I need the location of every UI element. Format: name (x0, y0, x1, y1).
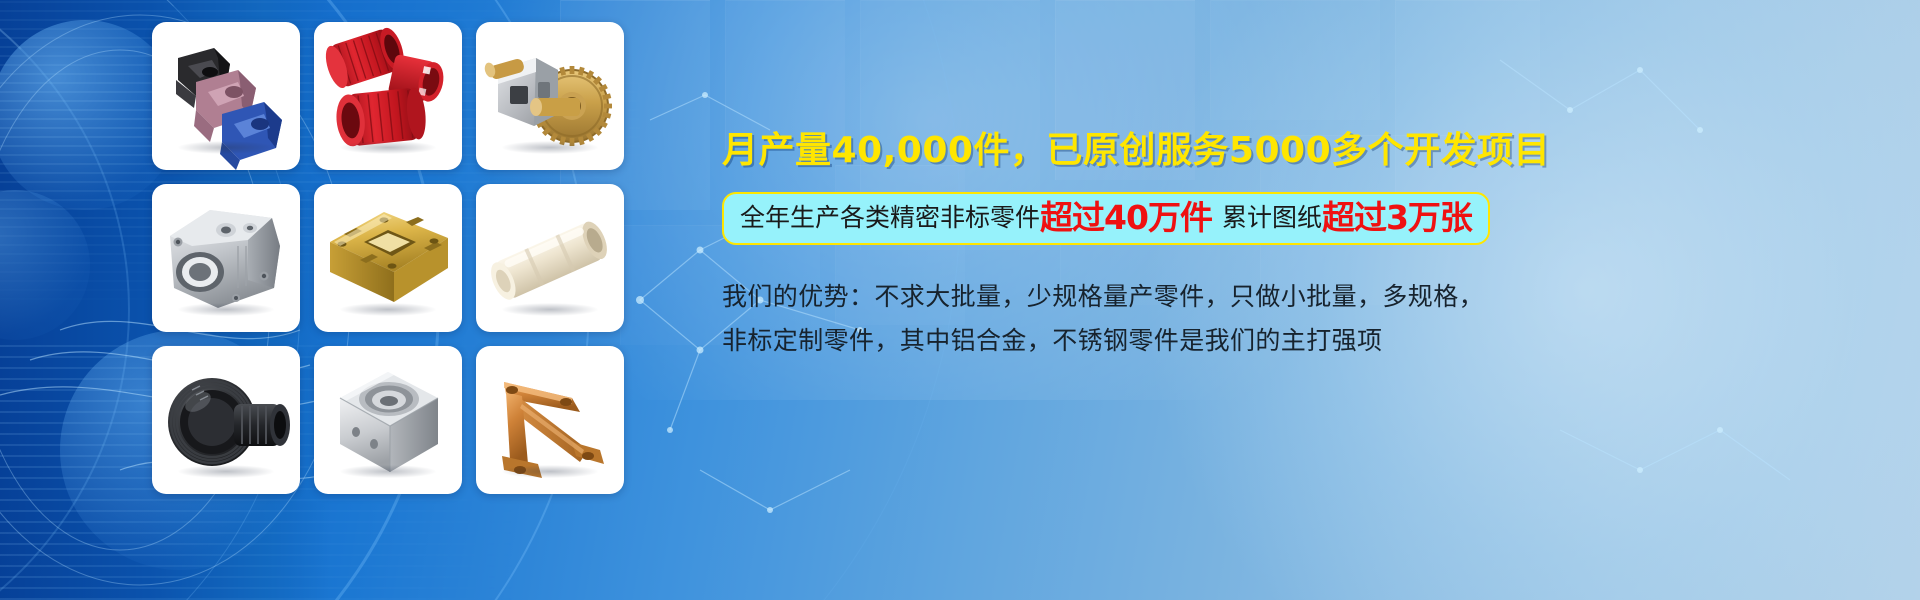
callout-text-part3: 累计图纸 (1222, 204, 1322, 232)
highlight-callout-box: 全年生产各类精密非标零件 超过40万件 累计图纸 超过3万张 (722, 192, 1490, 245)
banner-paragraph: 我们的优势：不求大批量，少规格量产零件，只做小批量，多规格， 非标定制零件，其中… (722, 275, 1482, 362)
product-card-machined-cube-block[interactable] (314, 346, 462, 494)
product-card-aluminum-gearbox-housing[interactable] (152, 184, 300, 332)
callout-emphasis-drawings: 超过3万张 (1322, 201, 1472, 234)
banner-headline: 月产量40,000件，已原创服务5000多个开发项目 (722, 128, 1882, 173)
promo-banner: 月产量40,000件，已原创服务5000多个开发项目 全年生产各类精密非标零件 … (0, 0, 1920, 600)
callout-text-part1: 全年生产各类精密非标零件 (740, 204, 1040, 232)
paragraph-line-2: 非标定制零件，其中铝合金，不锈钢零件是我们的主打强项 (722, 319, 1482, 363)
product-card-brass-worm-gear-assembly[interactable] (476, 22, 624, 170)
product-card-red-anodized-hub-shells[interactable] (314, 22, 462, 170)
callout-emphasis-quantity: 超过40万件 (1040, 201, 1212, 234)
product-card-anodized-bracket-parts[interactable] (152, 22, 300, 170)
banner-copy: 月产量40,000件，已原创服务5000多个开发项目 全年生产各类精密非标零件 … (722, 128, 1882, 362)
product-card-gold-anodized-mold-frame[interactable] (314, 184, 462, 332)
product-card-black-finned-connector-housing[interactable] (152, 346, 300, 494)
product-image-grid (152, 22, 624, 582)
product-card-white-plastic-tube-part[interactable] (476, 184, 624, 332)
product-card-copper-bracket-arm[interactable] (476, 346, 624, 494)
paragraph-line-1: 我们的优势：不求大批量，少规格量产零件，只做小批量，多规格， (722, 275, 1482, 319)
